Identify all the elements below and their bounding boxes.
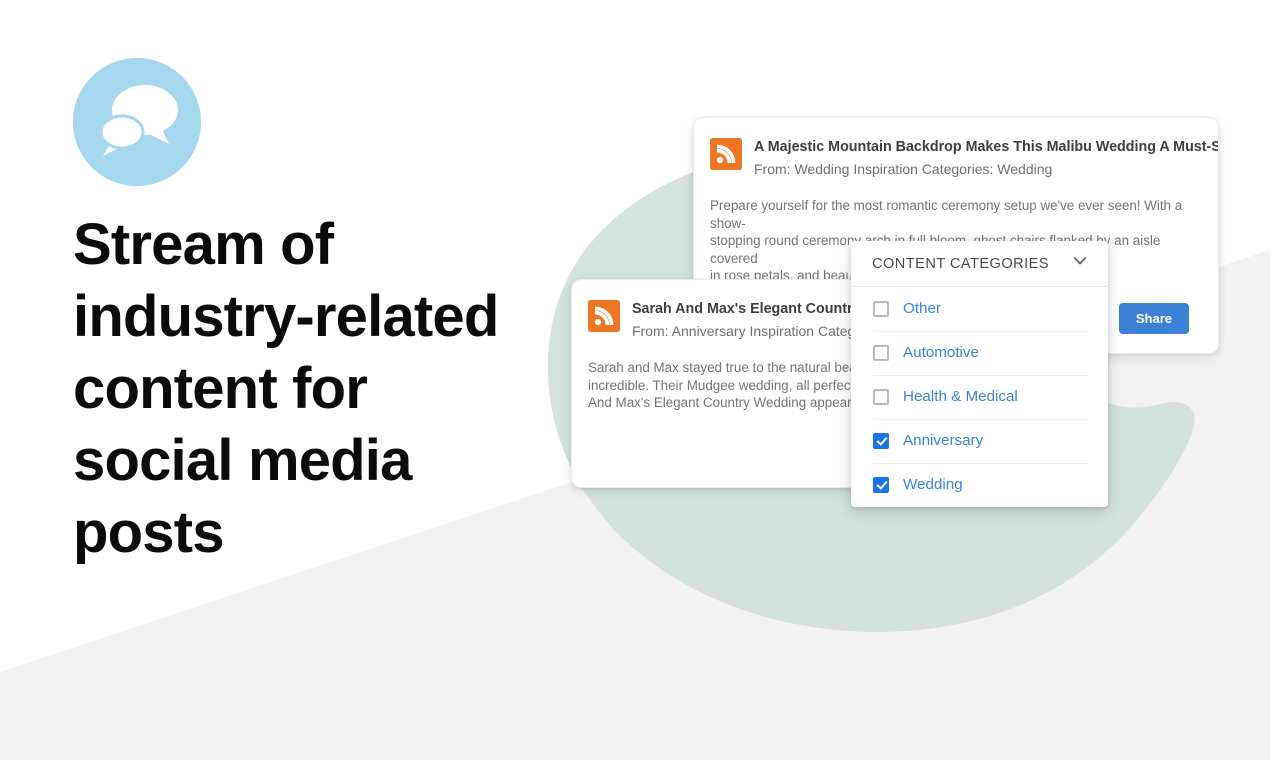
checkbox-other[interactable]: [873, 301, 889, 317]
dropdown-header[interactable]: CONTENT CATEGORIES: [851, 241, 1108, 287]
dropdown-item-wedding[interactable]: Wedding: [851, 463, 1108, 507]
rss-icon: [588, 300, 620, 332]
content-categories-dropdown[interactable]: CONTENT CATEGORIES Other Automotive Heal…: [851, 241, 1108, 507]
dropdown-item-other[interactable]: Other: [851, 287, 1108, 331]
card-body-line: Prepare yourself for the most romantic c…: [710, 197, 1194, 232]
card-header: A Majestic Mountain Backdrop Makes This …: [694, 118, 1218, 179]
card-title: A Majestic Mountain Backdrop Makes This …: [754, 138, 1218, 156]
dropdown-item-health-medical[interactable]: Health & Medical: [851, 375, 1108, 419]
checkbox-health-medical[interactable]: [873, 389, 889, 405]
checkbox-wedding[interactable]: [873, 477, 889, 493]
dropdown-item-automotive[interactable]: Automotive: [851, 331, 1108, 375]
card-subtitle: From: Wedding Inspiration Categories: We…: [754, 156, 1218, 179]
chevron-down-icon[interactable]: [1070, 251, 1090, 276]
dropdown-item-label: Health & Medical: [903, 388, 1018, 406]
hero-block: Stream of industry-related content for s…: [73, 58, 543, 569]
dropdown-item-anniversary[interactable]: Anniversary: [851, 419, 1108, 463]
checkbox-anniversary[interactable]: [873, 433, 889, 449]
share-button[interactable]: Share: [1119, 303, 1189, 334]
dropdown-header-label: CONTENT CATEGORIES: [872, 256, 1049, 272]
page-title: Stream of industry-related content for s…: [73, 186, 533, 569]
dropdown-item-label: Anniversary: [903, 432, 983, 450]
chat-bubbles-icon: [73, 58, 201, 186]
dropdown-list: Other Automotive Health & Medical Annive…: [851, 287, 1108, 507]
rss-icon: [710, 138, 742, 170]
dropdown-item-label: Automotive: [903, 344, 979, 362]
page-root: Stream of industry-related content for s…: [0, 0, 1270, 760]
checkbox-automotive[interactable]: [873, 345, 889, 361]
dropdown-item-label: Wedding: [903, 476, 963, 494]
dropdown-item-label: Other: [903, 300, 941, 318]
